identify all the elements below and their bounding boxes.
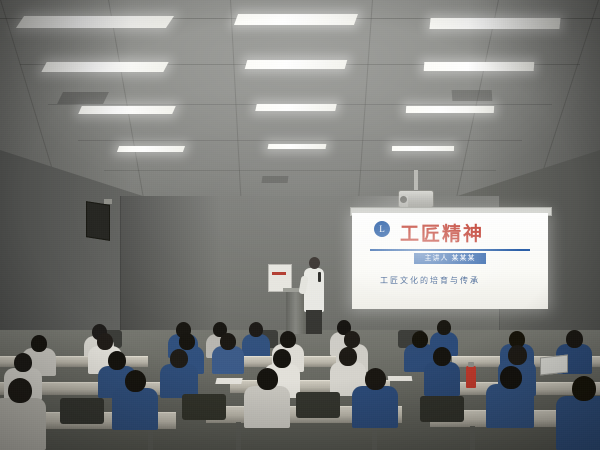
ceiling-shading: [0, 0, 600, 205]
audience-person: [556, 396, 600, 450]
water-bottle-cap: [468, 362, 474, 367]
audience-person: [212, 346, 244, 374]
audience-head: [257, 368, 278, 390]
papers: [215, 378, 242, 384]
chair-back: [182, 394, 226, 420]
audience-head: [566, 330, 583, 348]
audience-head: [344, 331, 360, 348]
audience-person: [160, 364, 198, 398]
audience-person: [352, 386, 398, 428]
slide: L 工匠精神 主讲人 某某某 工匠文化的培育与传承: [352, 213, 548, 309]
audience-head: [31, 335, 47, 352]
audience-person: [112, 388, 158, 430]
audience-head: [249, 322, 263, 337]
audience-head: [280, 331, 296, 348]
slide-body-text: 工匠文化的培育与传承: [380, 275, 480, 286]
wall-seam: [120, 196, 121, 336]
slide-logo-icon: L: [374, 221, 390, 237]
audience-head: [508, 345, 527, 365]
audience-head: [365, 368, 386, 390]
laptop: [540, 355, 568, 376]
table-leg: [148, 428, 153, 450]
audience-head: [220, 333, 236, 350]
loudspeaker: [86, 201, 110, 241]
presenter-body: [304, 268, 324, 312]
wall-notice-mark: [272, 272, 286, 275]
photo-scene: L 工匠精神 主讲人 某某某 工匠文化的培育与传承: [0, 0, 600, 450]
audience-head: [339, 347, 357, 366]
audience-head: [437, 320, 451, 335]
audience-head: [572, 376, 596, 401]
papers: [388, 376, 413, 381]
chair-back: [60, 398, 104, 424]
projection-screen: L 工匠精神 主讲人 某某某 工匠文化的培育与传承: [352, 213, 548, 309]
audience-person: [244, 386, 290, 428]
water-bottle: [466, 366, 476, 388]
audience-head: [500, 366, 522, 389]
audience-head: [170, 349, 188, 368]
audience-head: [108, 351, 126, 370]
audience-head: [8, 378, 32, 403]
wall-back-shadow: [120, 196, 220, 336]
slide-subtitle-badge: 主讲人 某某某: [414, 253, 486, 264]
slide-title: 工匠精神: [400, 219, 484, 246]
chair-back: [420, 396, 464, 422]
audience-head: [97, 333, 113, 350]
chair-back: [296, 392, 340, 418]
audience-person: [424, 362, 460, 396]
audience-person: [486, 384, 534, 428]
slide-divider: [370, 249, 530, 251]
audience-head: [125, 370, 146, 392]
audience-head: [433, 347, 451, 366]
presenter-head: [309, 257, 320, 269]
audience-person: [242, 334, 270, 358]
audience-person: [0, 398, 46, 450]
table-leg: [470, 426, 475, 450]
projector-mount: [414, 170, 418, 192]
audience-head: [14, 353, 32, 372]
loudspeaker-bracket: [104, 199, 112, 204]
presenter-legs: [306, 310, 322, 334]
audience-head: [273, 349, 291, 368]
table-leg: [236, 422, 241, 450]
presenter-microphone: [318, 272, 321, 282]
audience-head: [412, 331, 428, 348]
audience-head: [179, 333, 195, 350]
